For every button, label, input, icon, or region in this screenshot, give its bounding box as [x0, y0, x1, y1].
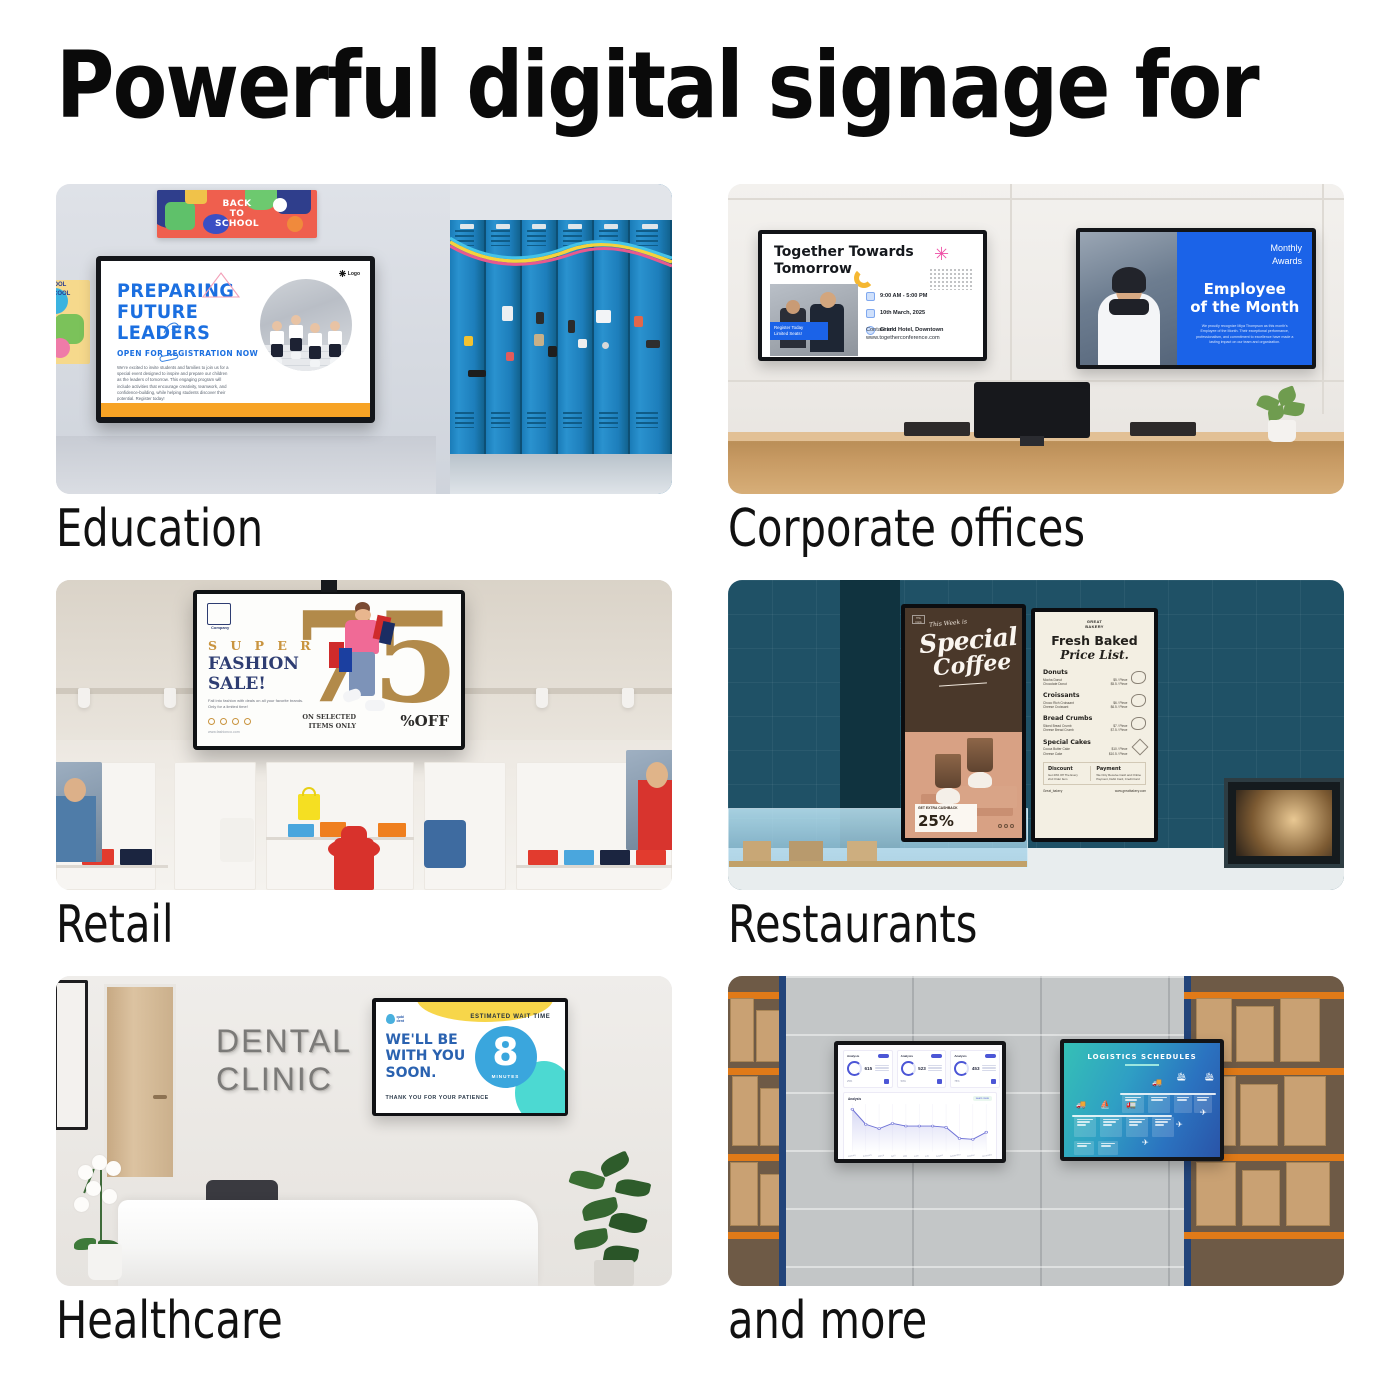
yellow-handbag	[298, 794, 320, 820]
spot-light	[622, 688, 634, 708]
conference-speakers-photo: Register Today Limited Seats!	[770, 284, 858, 356]
coffee-title-2: Coffee	[932, 651, 1012, 680]
bread-icon	[1131, 717, 1146, 730]
tooth-icon	[386, 1014, 395, 1024]
plane-icon: ✈	[1176, 1121, 1183, 1129]
chart-x-tick: June	[914, 1155, 919, 1158]
education-display: PREPARING FUTURE LEADERS OPEN FOR REGIST…	[96, 256, 375, 423]
use-case-card-warehouse: Analysis 615 25% Analysis 523 50% Analys…	[728, 976, 1344, 1372]
learn-more-button[interactable]: Learn more	[973, 1096, 992, 1101]
use-case-card-restaurants: THECAFE This Week is Special Coffee GET …	[728, 580, 1344, 976]
ship-icon: ⛵	[1100, 1101, 1110, 1109]
education-logo: Logo	[339, 270, 360, 277]
retail-url: www.fashionco.com	[208, 730, 240, 734]
waittime-screen-content: 8 MINUTES ESTIMATED WAIT TIME qubident W…	[376, 1002, 565, 1113]
menu-section: Special Cakes Cocoa Butter Cake$10 / Pie…	[1043, 739, 1146, 757]
orchid-plant	[72, 1140, 144, 1280]
conference-title: Together Towards Tomorrow	[774, 244, 914, 278]
bakery-brand: GREAT BAKERY	[1043, 619, 1146, 629]
corporate-display-right: Monthly Awards Employee of the Month We …	[1076, 228, 1316, 369]
caption-corporate: Corporate offices	[728, 498, 1085, 560]
caption-and-more: and more	[728, 1290, 927, 1352]
retail-title: FASHION SALE!	[208, 654, 299, 694]
kpi-card: Analysis 523 50%	[897, 1050, 947, 1088]
desk-accessory-right	[1130, 422, 1196, 436]
dot-pattern	[929, 268, 973, 290]
title-underline	[1125, 1064, 1159, 1066]
analytics-dashboard: Analysis 615 25% Analysis 523 50% Analys…	[838, 1045, 1002, 1159]
chart-x-tick: May	[903, 1155, 907, 1158]
caption-retail: Retail	[56, 894, 174, 956]
retail-body-text: Fall into fashion with deals on all your…	[208, 698, 308, 710]
kpi-action-icon[interactable]	[884, 1079, 889, 1084]
triangle-doodle	[201, 271, 241, 299]
kpi-row: Analysis 615 25% Analysis 523 50% Analys…	[843, 1050, 997, 1088]
pencil-doodle	[159, 353, 181, 363]
spot-light	[78, 688, 90, 708]
pallet-rack-left	[728, 976, 786, 1286]
white-top	[220, 818, 254, 862]
kpi-pill	[878, 1054, 889, 1058]
page-title: Powerful digital signage for	[56, 38, 1181, 134]
pricelist-screen-content: GREAT BAKERY Fresh Baked Price List. Don…	[1035, 612, 1154, 838]
employee-screen-content: Monthly Awards Employee of the Month We …	[1080, 232, 1312, 365]
reception-counter	[118, 1200, 538, 1286]
monthly-awards-kicker: Monthly Awards	[1270, 242, 1302, 268]
wall-frame	[56, 980, 88, 1130]
employee-body-text: We proudly recognize Miya Thompson as th…	[1196, 324, 1294, 346]
chart-x-tick: February	[863, 1154, 872, 1157]
coffee-social-icons	[998, 824, 1014, 828]
progress-ring	[847, 1061, 862, 1076]
signage-feature-page: Powerful digital signage for	[0, 0, 1400, 1400]
education-accent-bar	[101, 403, 370, 417]
logistics-title: LOGISTICS SCHEDULES	[1087, 1053, 1196, 1061]
wait-unit: MINUTES	[488, 1074, 524, 1079]
retail-company-logo: Company	[207, 603, 231, 625]
corporate-photo: Together Towards Tomorrow ✳ Reg	[728, 184, 1344, 494]
analysis-chart-card: Analysis Learn more	[843, 1092, 997, 1159]
education-body-text: We're excited to invite students and fam…	[117, 365, 229, 402]
kpi-action-icon[interactable]	[937, 1079, 942, 1084]
chart-x-tick: April	[891, 1155, 896, 1158]
education-student-photo	[260, 279, 352, 371]
ceiling-mount	[321, 580, 337, 592]
retail-terms: ON SELECTED ITEMS ONLY	[302, 713, 356, 730]
chart-x-tick: July	[925, 1155, 929, 1158]
pricelist-title-2: Price List.	[1043, 648, 1146, 662]
instagram-icon	[220, 718, 227, 725]
progress-ring	[954, 1061, 969, 1076]
star-icon: ✳	[934, 246, 950, 262]
chart-x-tick: August	[936, 1155, 943, 1158]
menu-section: Bread Crumbs Sliced Bread Crumb$7 / Piec…	[1043, 715, 1146, 733]
healthcare-display: 8 MINUTES ESTIMATED WAIT TIME qubident W…	[372, 998, 568, 1116]
croissant-icon	[1131, 694, 1146, 707]
shopper-model	[335, 602, 391, 722]
wait-label: ESTIMATED WAIT TIME	[470, 1014, 550, 1020]
kpi-pill	[985, 1054, 996, 1058]
conference-screen-content: Together Towards Tomorrow ✳ Reg	[762, 234, 983, 357]
warehouse-photo: Analysis 615 25% Analysis 523 50% Analys…	[728, 976, 1344, 1286]
clock-icon	[866, 292, 875, 301]
corporate-display-left: Together Towards Tomorrow ✳ Reg	[758, 230, 987, 361]
truck-icon: 🚛	[1126, 1101, 1136, 1109]
retail-display: 75	[193, 590, 465, 750]
side-poster: HOOL COOL	[56, 280, 90, 364]
ship-icon: 🛳	[1176, 1073, 1186, 1081]
youtube-icon	[244, 718, 251, 725]
school-lockers	[450, 184, 672, 494]
education-screen-content: PREPARING FUTURE LEADERS OPEN FOR REGIST…	[101, 261, 370, 417]
retail-screen-content: 75	[197, 594, 461, 746]
chart-title: Analysis	[848, 1097, 861, 1101]
clinic-logo: qubident	[386, 1014, 405, 1024]
truck-icon: 🚚	[1152, 1079, 1162, 1087]
line-chart-svg	[848, 1103, 992, 1155]
logistics-screen-content: LOGISTICS SCHEDULES	[1064, 1043, 1220, 1157]
plane-icon: ✈	[1142, 1139, 1149, 1147]
line-chart-plot	[848, 1103, 992, 1155]
employee-photo	[1080, 232, 1177, 365]
asterisk-icon	[339, 270, 346, 277]
progress-ring	[901, 1061, 916, 1076]
chart-x-tick: January	[848, 1155, 856, 1158]
store-poster-left	[56, 762, 102, 862]
twitter-icon	[232, 718, 239, 725]
warehouse-display-logistics: LOGISTICS SCHEDULES	[1060, 1039, 1224, 1161]
social-icons	[208, 718, 251, 725]
plane-icon: ✈	[1200, 1109, 1207, 1117]
swirl-doodle	[163, 319, 185, 337]
chart-x-tick: September	[950, 1154, 961, 1158]
calendar-icon	[866, 309, 875, 318]
spot-light	[164, 688, 176, 708]
register-badge: Register Today Limited Seats!	[770, 322, 828, 340]
mannequin	[334, 838, 374, 890]
use-case-card-corporate: Together Towards Tomorrow ✳ Reg	[728, 184, 1344, 580]
use-case-card-education: HOOL COOL BACK TO SCHOOL	[56, 184, 672, 580]
desk-accessory-left	[904, 422, 970, 436]
wait-number: 8	[492, 1030, 520, 1074]
kpi-pill	[931, 1054, 942, 1058]
use-case-card-healthcare: DENTAL CLINIC 8 MINUTES ESTIMATED WAIT T…	[56, 976, 672, 1372]
retail-photo: 75	[56, 580, 672, 890]
store-poster-right	[626, 750, 672, 850]
caption-healthcare: Healthcare	[56, 1290, 283, 1352]
employee-of-month-title: Employee of the Month	[1190, 280, 1299, 316]
cashback-promo: GET EXTRA CASHBACK 25%	[915, 804, 977, 832]
discount-payment-box: Discount Get 20% Off The Every 2nd Order…	[1043, 762, 1146, 785]
chart-x-tick: March	[878, 1155, 884, 1158]
coffee-brand-mark: THECAFE	[912, 615, 925, 624]
facebook-icon	[208, 718, 215, 725]
restaurant-display-pricelist: GREAT BAKERY Fresh Baked Price List. Don…	[1031, 608, 1158, 842]
menu-section: Donuts Mocha Donut$5 / Piece Chocolate D…	[1043, 669, 1146, 687]
truck-icon: 🚚	[1076, 1101, 1086, 1109]
caption-education: Education	[56, 498, 263, 560]
education-subtitle: OPEN FOR REGISTRATION NOW	[117, 349, 258, 358]
back-to-school-poster: BACK TO SCHOOL	[157, 190, 317, 238]
desk-monitor	[974, 382, 1090, 438]
kpi-card: Analysis 615 25%	[843, 1050, 893, 1088]
warehouse-display-dashboard: Analysis 615 25% Analysis 523 50% Analys…	[834, 1041, 1006, 1163]
chart-x-tick: October	[967, 1155, 975, 1158]
menu-section: Croissants Choco Rich Croissant$6 / Piec…	[1043, 692, 1146, 710]
kpi-action-icon[interactable]	[991, 1079, 996, 1084]
denim-jacket	[424, 820, 466, 868]
percent-off-label: %OFF	[400, 712, 449, 730]
thank-you-text: THANK YOU FOR YOUR PATIENCE	[386, 1095, 489, 1101]
use-case-grid: HOOL COOL BACK TO SCHOOL	[56, 184, 1344, 1360]
chart-x-axis-labels: JanuaryFebruaryMarchAprilMayJuneJulyAugu…	[848, 1156, 992, 1158]
ship-icon: 🛳	[1204, 1073, 1214, 1081]
caption-restaurants: Restaurants	[728, 894, 977, 956]
chart-x-tick: November	[982, 1154, 992, 1158]
restaurants-photo: THECAFE This Week is Special Coffee GET …	[728, 580, 1344, 890]
donut-icon	[1131, 671, 1146, 684]
oven-window	[1224, 778, 1344, 868]
conference-contact: Contact Info www.togetherconference.com	[866, 326, 940, 342]
employee-text-panel: Monthly Awards Employee of the Month We …	[1177, 232, 1312, 365]
store-shelving	[56, 762, 672, 890]
healthcare-photo: DENTAL CLINIC 8 MINUTES ESTIMATED WAIT T…	[56, 976, 672, 1286]
kpi-card: Analysis 453 75%	[950, 1050, 1000, 1088]
poster-text: BACK TO SCHOOL	[215, 199, 259, 229]
coffee-screen-content: THECAFE This Week is Special Coffee GET …	[905, 608, 1022, 838]
use-case-card-retail: 75	[56, 580, 672, 976]
wait-message: WE'LL BE WITH YOU SOON.	[386, 1032, 466, 1082]
hallway-floor	[56, 436, 436, 494]
education-photo: HOOL COOL BACK TO SCHOOL	[56, 184, 672, 494]
clinic-wall-sign: DENTAL CLINIC	[216, 1022, 352, 1098]
potted-plant	[1256, 388, 1308, 442]
pricelist-footer: Great_bakery www.greatbakery.com	[1043, 789, 1146, 793]
retail-kicker: S U P E R	[208, 638, 315, 653]
floor-plant	[566, 1156, 662, 1286]
pricelist-title-1: Fresh Baked	[1043, 634, 1146, 648]
spot-light	[536, 688, 548, 708]
restaurant-display-coffee: THECAFE This Week is Special Coffee GET …	[901, 604, 1026, 842]
